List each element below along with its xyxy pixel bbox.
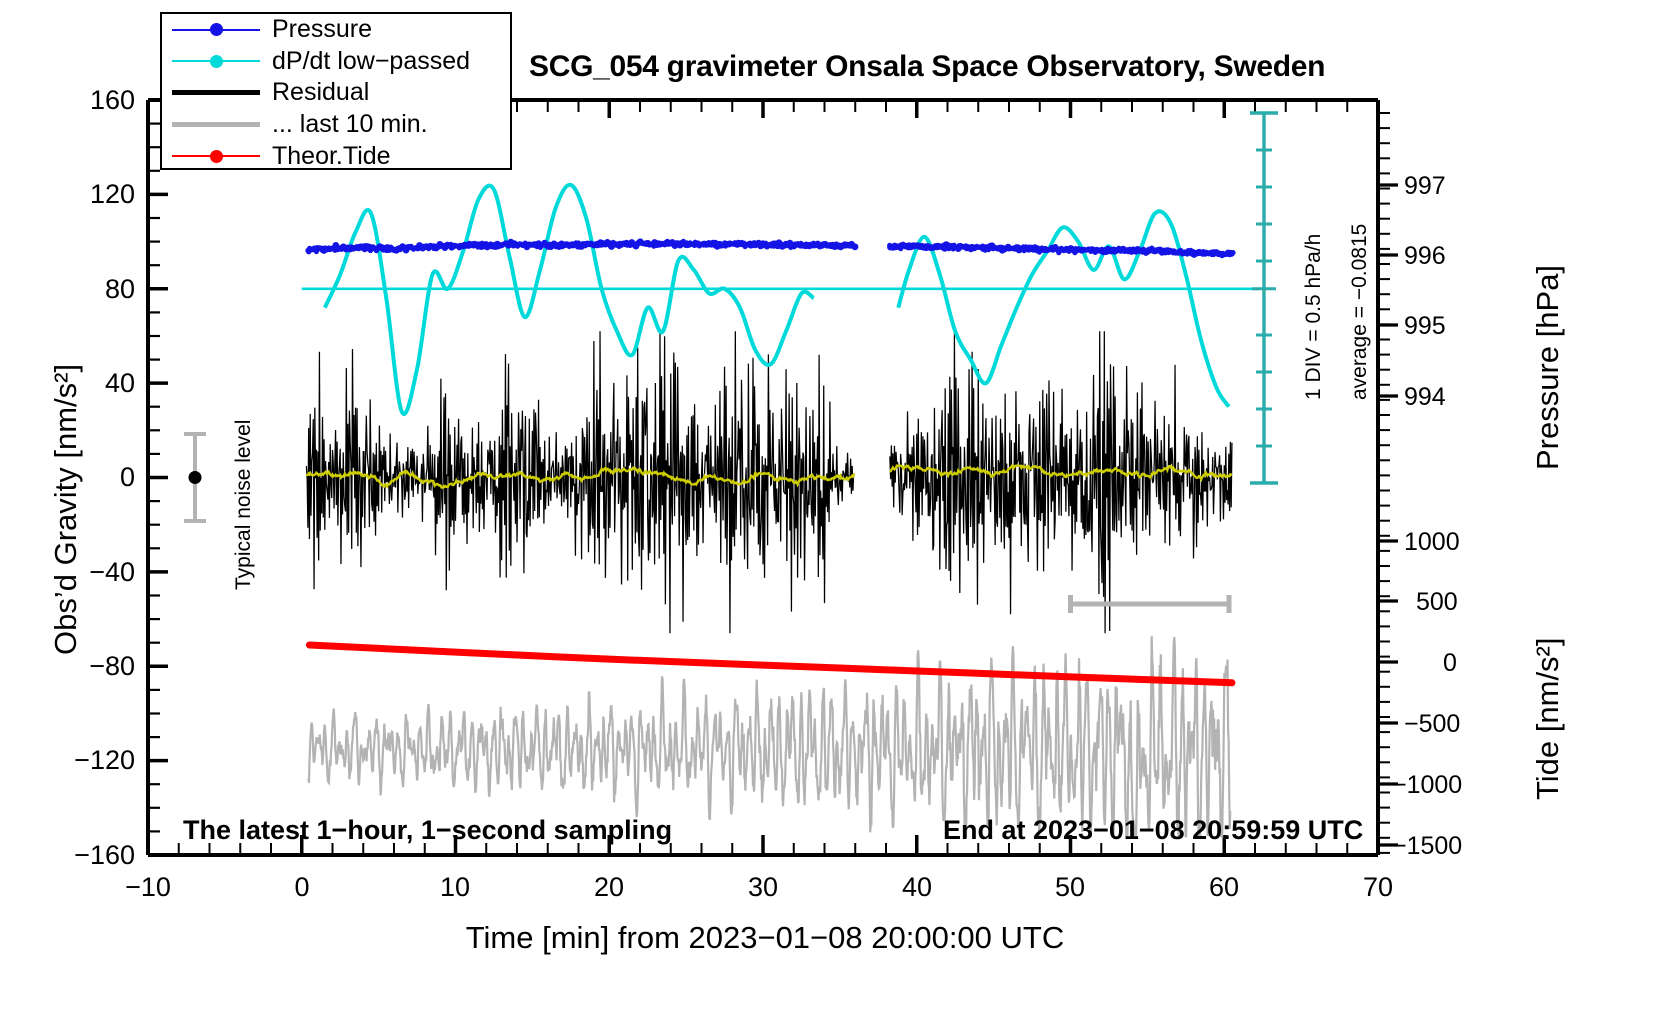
left-axis-title: Obs’d Gravity [nm/s²] (48, 364, 84, 655)
right-tide-tick-neg500: −500 (1404, 710, 1460, 739)
left-tick-120: 120 (75, 179, 135, 210)
right-tide-tick-500: 500 (1416, 588, 1458, 617)
left-tick-160: 160 (75, 85, 135, 116)
legend-swatch-dpdt (172, 51, 260, 71)
chart-stage: Pressure dP/dt low−passed Residual ... l… (0, 0, 1660, 1020)
right-tide-axis-title: Tide [nm/s²] (1530, 638, 1566, 801)
bottom-right-note: End at 2023−01−08 20:59:59 UTC (943, 815, 1363, 846)
average-label: average = −0.0815 (1348, 224, 1372, 400)
legend-item-pressure: Pressure (162, 14, 510, 46)
bottom-tick-20: 20 (579, 872, 639, 903)
legend-label-tide: Theor.Tide (272, 142, 391, 171)
bottom-tick-50: 50 (1040, 872, 1100, 903)
left-tick-0: 0 (75, 462, 135, 493)
div-scale-label: 1 DIV = 0.5 hPa/h (1302, 234, 1326, 400)
right-pressure-axis-title: Pressure [hPa] (1530, 265, 1566, 470)
left-tick-neg160: −160 (50, 840, 135, 871)
legend: Pressure dP/dt low−passed Residual ... l… (160, 12, 512, 170)
legend-item-dpdt: dP/dt low−passed (162, 46, 510, 78)
legend-item-tide: Theor.Tide (162, 140, 510, 172)
left-tick-80: 80 (75, 274, 135, 305)
legend-label-dpdt: dP/dt low−passed (272, 47, 470, 76)
legend-label-last10: ... last 10 min. (272, 110, 428, 139)
legend-item-residual: Residual (162, 77, 510, 109)
legend-swatch-tide (172, 146, 260, 166)
right-tide-tick-neg1000: −1000 (1392, 771, 1462, 800)
bottom-axis-title: Time [min] from 2023−01−08 20:00:00 UTC (0, 920, 1530, 956)
bottom-tick-10: 10 (425, 872, 485, 903)
right-tide-tick-1000: 1000 (1404, 528, 1460, 557)
bottom-tick-0: 0 (272, 872, 332, 903)
legend-swatch-residual (172, 83, 260, 103)
chart-title: SCG_054 gravimeter Onsala Space Observat… (529, 50, 1325, 84)
legend-swatch-pressure (172, 20, 260, 40)
bottom-tick-60: 60 (1194, 872, 1254, 903)
legend-item-last10: ... last 10 min. (162, 109, 510, 141)
bottom-left-note: The latest 1−hour, 1−second sampling (183, 815, 672, 846)
left-tick-neg80: −80 (62, 651, 135, 682)
left-tick-neg120: −120 (50, 745, 135, 776)
typical-noise-level-label: Typical noise level (232, 420, 256, 590)
bottom-tick-30: 30 (733, 872, 793, 903)
bottom-tick-40: 40 (887, 872, 947, 903)
right-pressure-tick-995: 995 (1404, 312, 1446, 341)
bottom-tick-70: 70 (1348, 872, 1408, 903)
right-tide-tick-neg1500: −1500 (1392, 832, 1462, 861)
right-pressure-tick-996: 996 (1404, 242, 1446, 271)
right-tide-tick-0: 0 (1443, 649, 1457, 678)
legend-label-pressure: Pressure (272, 15, 372, 44)
right-pressure-tick-997: 997 (1404, 172, 1446, 201)
bottom-tick-neg10: −10 (118, 872, 178, 903)
legend-label-residual: Residual (272, 78, 369, 107)
right-pressure-tick-994: 994 (1404, 383, 1446, 412)
legend-swatch-last10 (172, 115, 260, 135)
left-tick-40: 40 (75, 368, 135, 399)
